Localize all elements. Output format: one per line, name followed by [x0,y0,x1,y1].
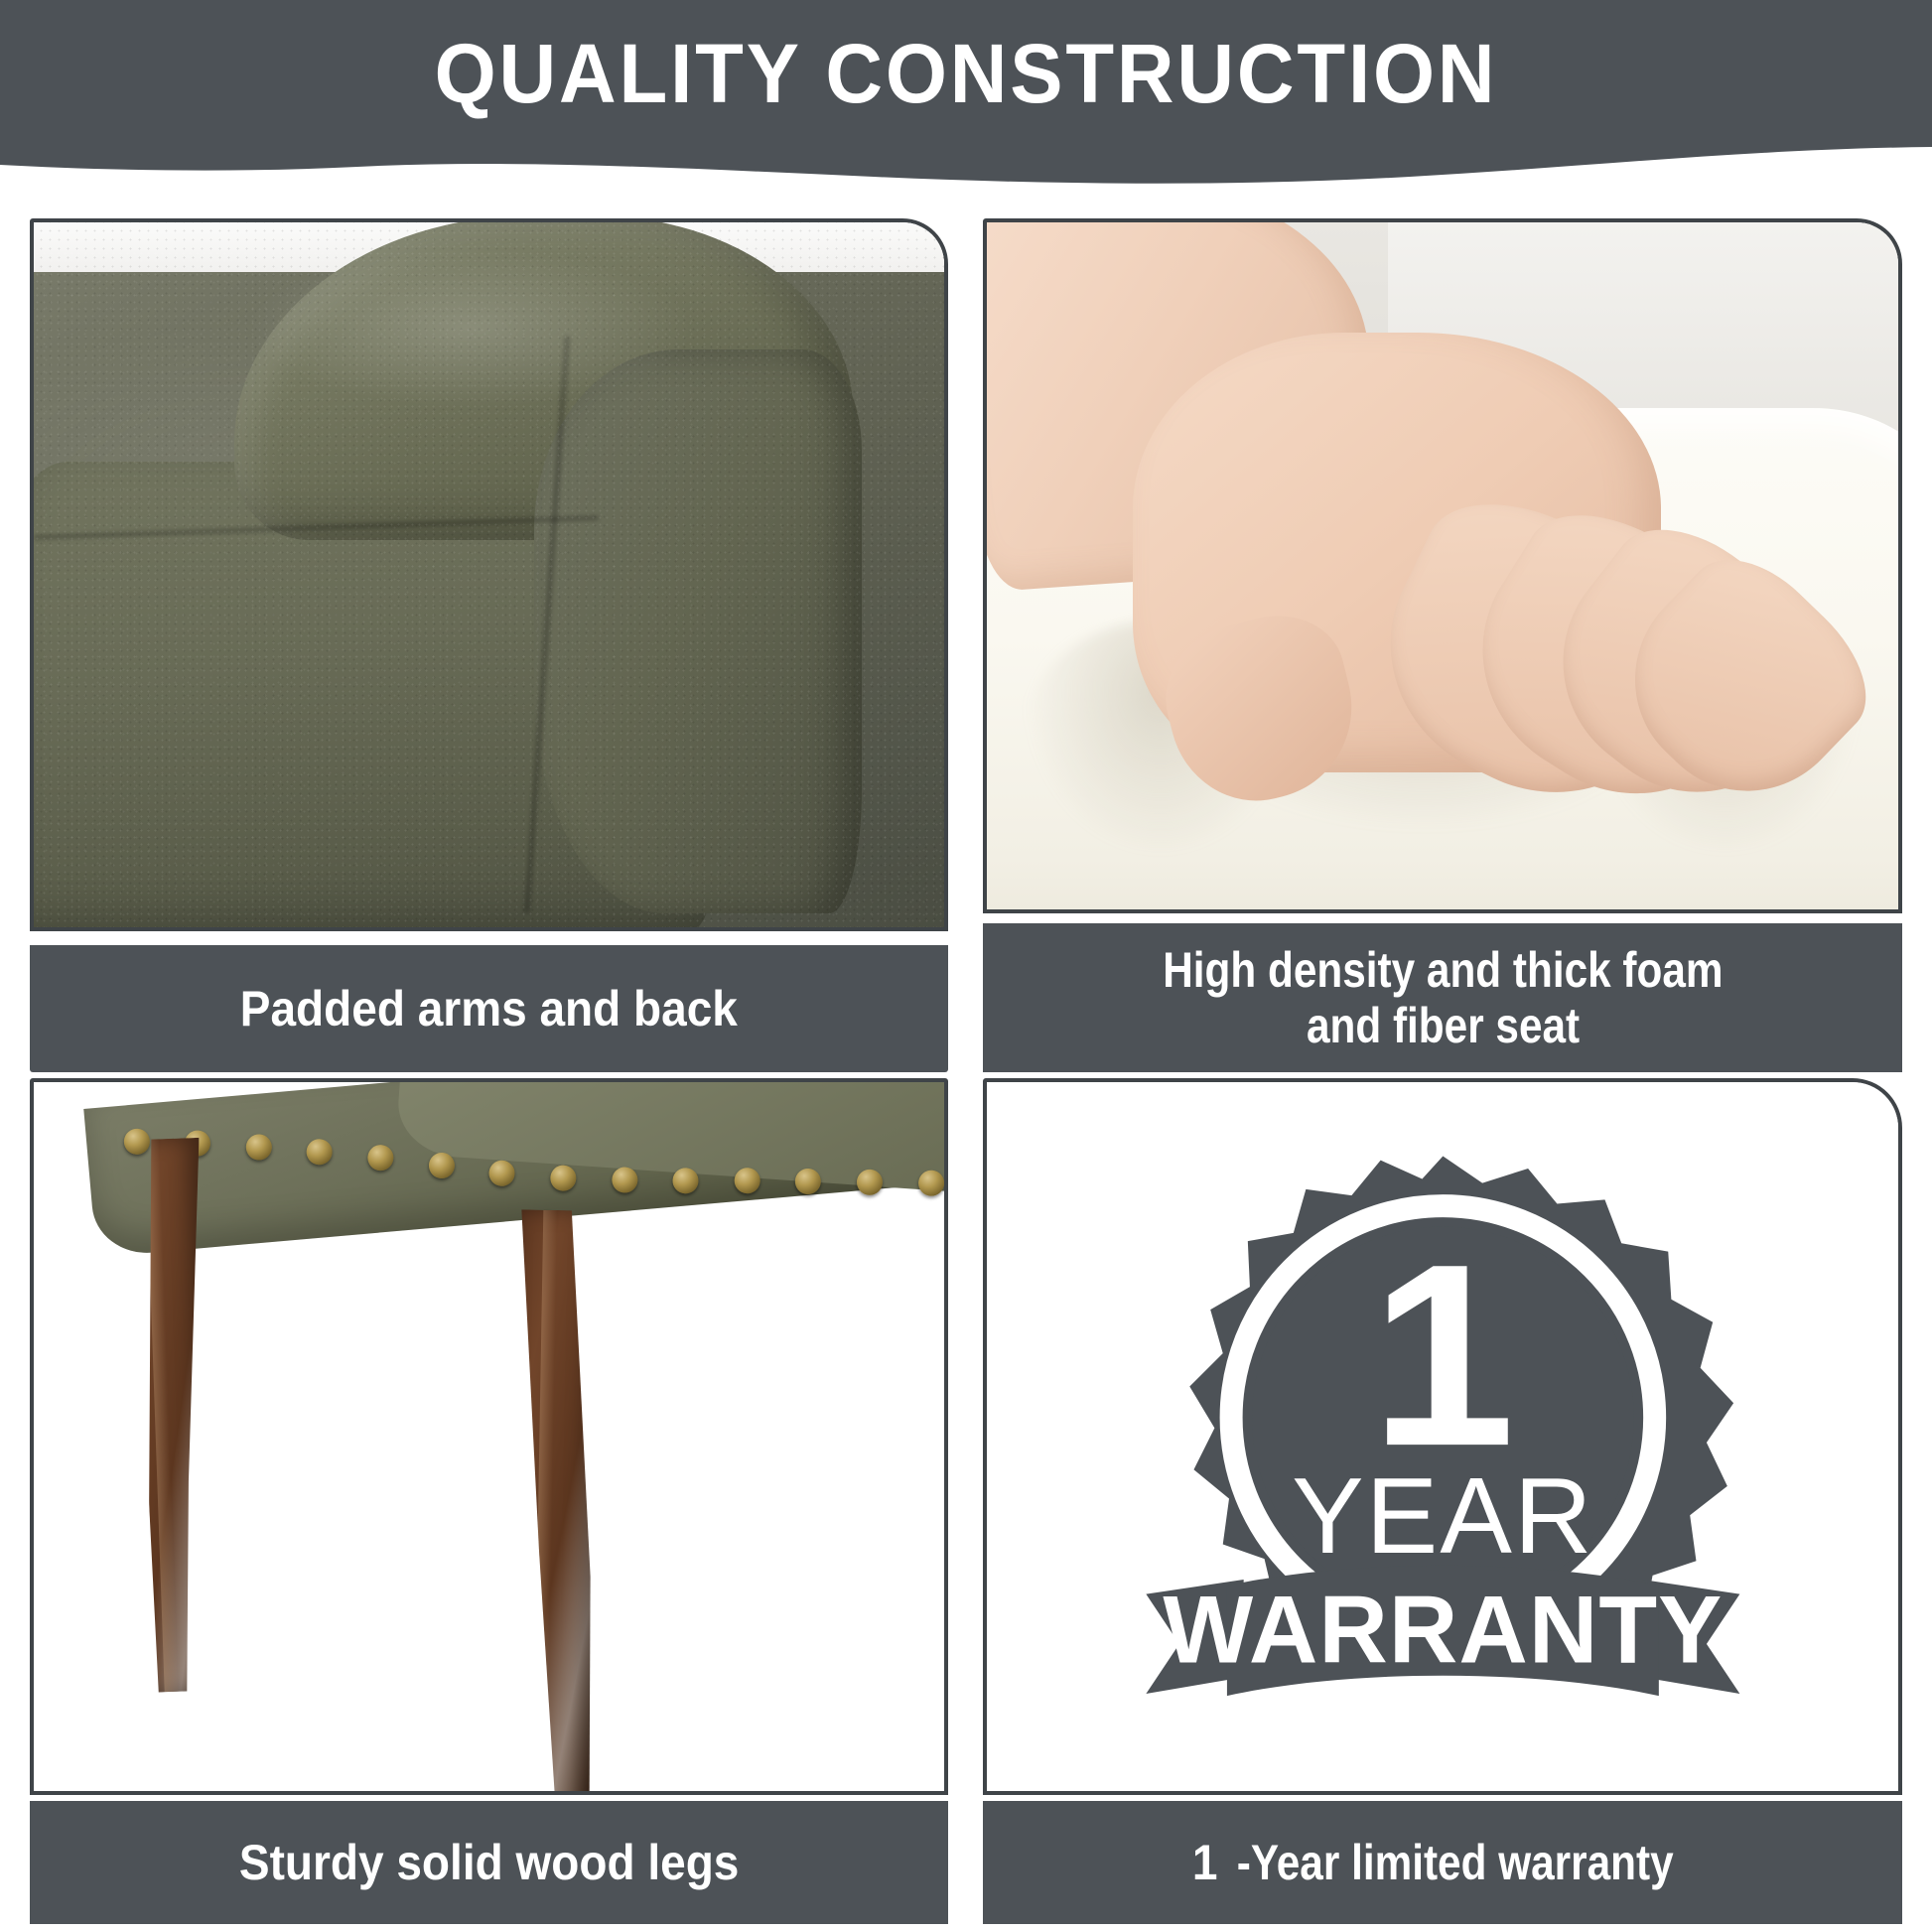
caption-text: Padded arms and back [240,981,738,1036]
caption-line-2: and fiber seat [1306,998,1579,1053]
caption-line-1: High density and thick foam [1163,942,1723,998]
caption-rest: -Year limited warranty [1237,1835,1674,1890]
feature-tile-foam-seat[interactable]: High density and thick foamand fiber sea… [983,218,1902,1072]
warranty-seal-icon: 1 YEAR WARRANTY [1069,1146,1817,1726]
tile-caption-foam-seat: High density and thick foamand fiber sea… [983,923,1902,1072]
page-title: QUALITY CONSTRUCTION [49,30,1884,117]
tile-caption-wood-legs: Sturdy solid wood legs [30,1801,948,1924]
page-header: QUALITY CONSTRUCTION [0,0,1932,189]
feature-tile-grid: Padded arms and back High density [0,195,1932,1932]
one-year-warranty-badge: 1 YEAR WARRANTY [983,1078,1902,1795]
tile-caption-warranty: 1-Year limited warranty [983,1801,1902,1924]
caption-text: 1-Year limited warranty [1192,1835,1693,1890]
caption-lead: 1 [1192,1835,1218,1890]
caption-text: Sturdy solid wood legs [239,1835,739,1890]
warranty-period-text: YEAR [1292,1456,1593,1577]
warranty-ribbon-text: WARRANTY [1163,1578,1723,1684]
padded-chair-arm-photo [30,218,948,931]
feature-tile-wood-legs[interactable]: Sturdy solid wood legs [30,1078,948,1924]
tile-caption-padded-arms: Padded arms and back [30,945,948,1072]
hand-pressing-foam-seat-photo [983,218,1902,913]
feature-tile-padded-arms[interactable]: Padded arms and back [30,218,948,1072]
wood-leg-right [511,1209,601,1795]
solid-wood-chair-legs-photo [30,1078,948,1795]
feature-tile-warranty[interactable]: 1 YEAR WARRANTY 1-Year limited warranty [983,1078,1902,1924]
caption-text: High density and thick foamand fiber sea… [1138,942,1746,1053]
